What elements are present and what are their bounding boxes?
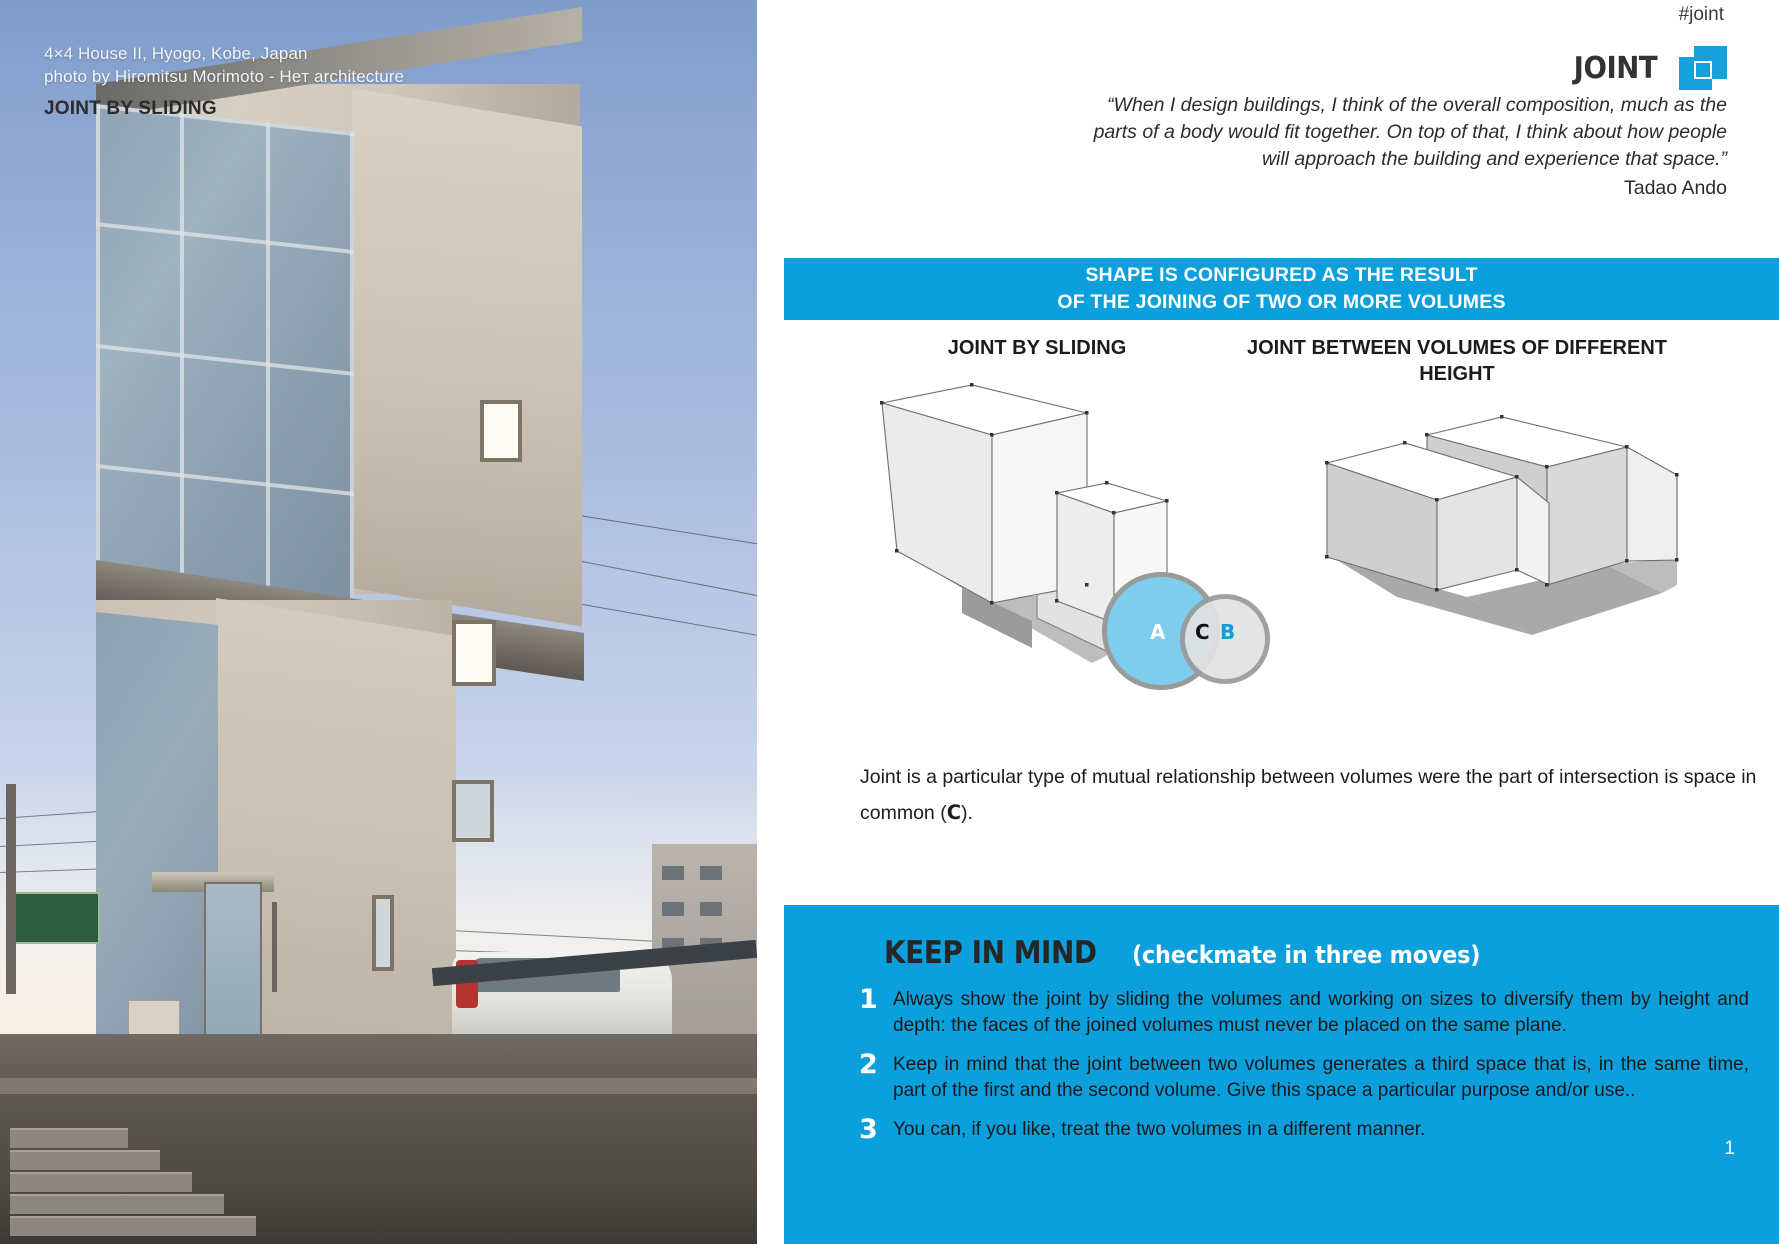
venn-label-c: C (1195, 620, 1210, 644)
stairs (10, 1084, 260, 1244)
caption-part-1: Joint is a particular type of mutual rel… (860, 766, 1756, 824)
hashtag-label: #joint (1679, 4, 1724, 26)
diagram-different-height (1317, 385, 1737, 685)
list-item: 2 Keep in mind that the joint between tw… (859, 1052, 1749, 1104)
keep-in-mind-subheading: (checkmate in three moves) (1132, 941, 1480, 969)
venn-label-a: A (1150, 620, 1165, 644)
keep-in-mind-header: KEEP IN MIND (checkmate in three moves) (884, 935, 1507, 971)
building-photo: 4×4 House II, Hyogo, Kobe, Japan photo b… (0, 0, 757, 1244)
joint-brand: JOINT (1570, 46, 1727, 90)
window-middle (452, 620, 496, 686)
list-item-text: You can, if you like, treat the two volu… (893, 1117, 1749, 1143)
slide-page: 4×4 House II, Hyogo, Kobe, Japan photo b… (0, 0, 1779, 1244)
keep-in-mind-list: 1 Always show the joint by sliding the v… (859, 987, 1749, 1156)
list-item: 1 Always show the joint by sliding the v… (859, 987, 1749, 1039)
diagram-left-title: JOINT BY SLIDING (857, 335, 1217, 361)
list-item-number: 1 (859, 987, 883, 1039)
quote-author: Tadao Ando (1087, 177, 1727, 200)
keep-in-mind-heading: KEEP IN MIND (884, 935, 1097, 971)
window-slot (372, 895, 394, 971)
upper-volume-glass-face (96, 104, 354, 612)
photo-caption: 4×4 House II, Hyogo, Kobe, Japan photo b… (44, 42, 404, 120)
list-item-text: Keep in mind that the joint between two … (893, 1052, 1749, 1104)
headline-banner: SHAPE IS CONFIGURED AS THE RESULT OF THE… (784, 258, 1779, 320)
brand-wordmark: JOINT (1574, 51, 1658, 86)
photo-credit-line-2: photo by Hiromitsu Morimoto - Heт archit… (44, 65, 404, 88)
window-upper (480, 400, 522, 462)
list-item-text: Always show the joint by sliding the vol… (893, 987, 1749, 1039)
venn-label-b: B (1220, 620, 1235, 644)
joint-logo-icon (1679, 46, 1727, 90)
list-item: 3 You can, if you like, treat the two vo… (859, 1117, 1749, 1143)
window-grid (96, 104, 354, 612)
diagram-right-title: JOINT BETWEEN VOLUMES OF DIFFERENT HEIGH… (1227, 335, 1687, 387)
list-item-number: 3 (859, 1117, 883, 1143)
venn-diagram: A C B (1102, 590, 1322, 715)
upper-volume-right-face (352, 88, 582, 626)
list-item-number: 2 (859, 1052, 883, 1104)
caption-part-2: ). (961, 802, 973, 824)
utility-pole (6, 784, 16, 994)
banner-line-1: SHAPE IS CONFIGURED AS THE RESULT (1085, 262, 1477, 289)
page-number: 1 (1724, 1138, 1735, 1160)
utility-pole-far (272, 902, 277, 992)
photo-title: JOINT BY SLIDING (44, 98, 404, 120)
diagram-area: JOINT BY SLIDING JOINT BETWEEN VOLUMES O… (757, 335, 1779, 715)
content-panel: #joint JOINT “When I design buildings, I… (757, 0, 1779, 1244)
joint-definition-caption: Joint is a particular type of mutual rel… (860, 760, 1765, 831)
keep-in-mind-box: KEEP IN MIND (checkmate in three moves) … (784, 905, 1779, 1244)
logo-overlap-outline (1694, 61, 1712, 79)
photo-credit-line-1: 4×4 House II, Hyogo, Kobe, Japan (44, 42, 404, 65)
jazz-spot-sign (8, 892, 100, 944)
banner-line-2: OF THE JOINING OF TWO OR MORE VOLUMES (1057, 289, 1505, 316)
tadao-ando-quote: “When I design buildings, I think of the… (1087, 92, 1727, 173)
window-lower (452, 780, 494, 842)
caption-highlight-c: C (947, 801, 961, 824)
